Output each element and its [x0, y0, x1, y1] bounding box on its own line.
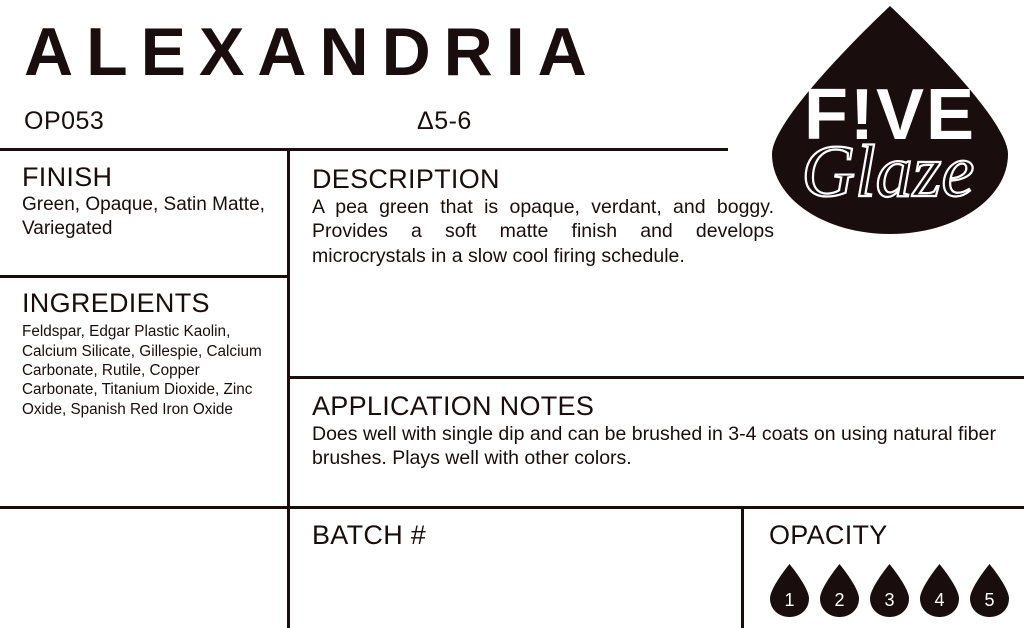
main-vertical-divider — [287, 150, 290, 628]
opacity-drop-2[interactable]: 2 — [819, 563, 860, 618]
description-appnotes-divider — [287, 376, 1024, 379]
finish-ingredients-divider — [0, 275, 290, 278]
ingredients-heading: INGREDIENTS — [22, 289, 278, 318]
opacity-scale: 1 2 3 4 5 — [769, 563, 1017, 621]
brand-logo: F!VE Glaze — [770, 4, 1010, 236]
glaze-name-title: ALEXANDRIA — [24, 18, 600, 86]
description-text: A pea green that is opaque, verdant, and… — [312, 195, 774, 268]
bottom-section-divider — [0, 506, 1024, 509]
glaze-code: OP053 — [24, 107, 104, 136]
cone-range: Δ5-6 — [417, 107, 472, 136]
header-divider — [0, 148, 728, 151]
opacity-drop-3[interactable]: 3 — [869, 563, 910, 618]
application-notes-text: Does well with single dip and can be bru… — [312, 422, 1012, 470]
opacity-section: OPACITY — [769, 521, 1019, 550]
brand-script-text: Glaze — [802, 131, 975, 213]
glaze-label: ALEXANDRIA OP053 Δ5-6 F!VE Glaze FINISH … — [0, 0, 1024, 628]
opacity-drop-label: 4 — [919, 563, 960, 618]
finish-section: FINISH Green, Opaque, Satin Matte, Varie… — [22, 163, 280, 240]
glaze-code-row: OP053 Δ5-6 — [24, 107, 724, 141]
opacity-vertical-divider — [741, 509, 744, 628]
opacity-drop-label: 3 — [869, 563, 910, 618]
description-heading: DESCRIPTION — [312, 165, 774, 194]
ingredients-section: INGREDIENTS Feldspar, Edgar Plastic Kaol… — [22, 289, 278, 419]
finish-heading: FINISH — [22, 163, 280, 192]
opacity-drop-4[interactable]: 4 — [919, 563, 960, 618]
svg-text:Glaze: Glaze — [802, 131, 975, 213]
batch-heading: BATCH # — [312, 521, 426, 550]
description-section: DESCRIPTION A pea green that is opaque, … — [312, 165, 774, 268]
opacity-heading: OPACITY — [769, 521, 1019, 550]
opacity-drop-label: 1 — [769, 563, 810, 618]
batch-section: BATCH # — [312, 521, 426, 550]
finish-value: Green, Opaque, Satin Matte, Variegated — [22, 193, 280, 240]
application-notes-heading: APPLICATION NOTES — [312, 392, 1012, 421]
application-notes-section: APPLICATION NOTES Does well with single … — [312, 392, 1012, 471]
ingredients-list: Feldspar, Edgar Plastic Kaolin, Calcium … — [22, 322, 278, 419]
opacity-drop-label: 2 — [819, 563, 860, 618]
opacity-drop-label: 5 — [969, 563, 1010, 618]
opacity-drop-5[interactable]: 5 — [969, 563, 1010, 618]
opacity-drop-1[interactable]: 1 — [769, 563, 810, 618]
